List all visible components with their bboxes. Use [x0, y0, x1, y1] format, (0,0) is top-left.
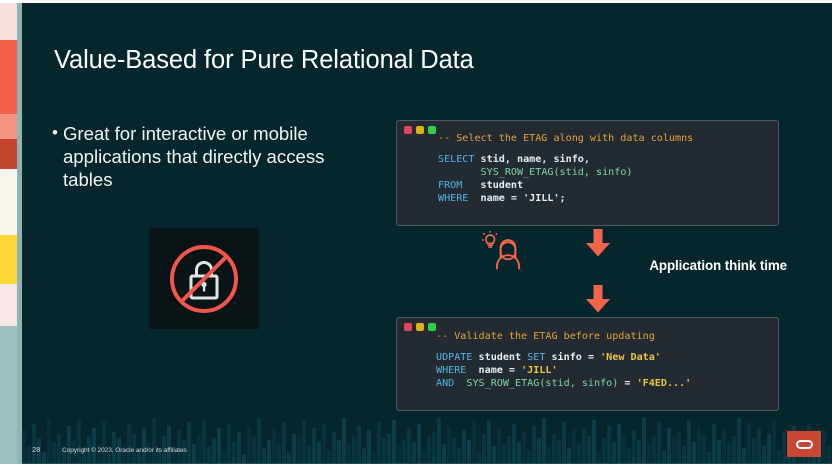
footer-bar	[417, 424, 421, 464]
code-content: -- Validate the ETAG before updatingUDPA…	[436, 330, 772, 390]
footer-bar	[412, 442, 416, 464]
footer-bar	[642, 418, 646, 464]
left-color-strip	[0, 0, 17, 468]
footer-bar	[337, 440, 341, 464]
footer-bar	[267, 440, 271, 464]
code-token: SELECT	[438, 154, 481, 165]
footer-bar	[822, 430, 826, 464]
code-token: WHERE	[436, 365, 479, 376]
footer-bar	[457, 448, 461, 464]
strip-band-salmon	[0, 114, 17, 139]
footer-bar	[532, 426, 536, 464]
code-token: -- Select the ETAG along with data colum…	[438, 133, 693, 144]
person-idea-icon	[481, 230, 523, 270]
footer-bar	[327, 450, 331, 464]
strip-band-pale-pink	[0, 284, 17, 326]
footer-bar	[772, 420, 776, 464]
window-minimize-dot[interactable]	[416, 323, 424, 331]
footer-bar	[282, 422, 286, 464]
footer-bar	[522, 432, 526, 464]
footer-bar	[562, 422, 566, 464]
footer-bar	[737, 418, 741, 464]
footer-bar	[402, 440, 406, 464]
code-token: FROM	[438, 180, 481, 191]
footer-bar	[382, 438, 386, 464]
code-token: SYS_ROW_ETAG(stid, sinfo)	[466, 378, 624, 389]
code-token: name = 'JILL';	[481, 193, 566, 204]
footer-bar	[542, 418, 546, 464]
footer-bar	[32, 424, 36, 464]
window-maximize-dot[interactable]	[428, 126, 436, 134]
footer-bar	[607, 426, 611, 464]
oracle-logo-icon	[787, 431, 821, 457]
footer-bar	[762, 446, 766, 464]
footer-bar	[257, 418, 261, 464]
footer-bar	[667, 428, 671, 464]
footer-bar	[717, 440, 721, 464]
footer-bar	[652, 436, 656, 464]
code-line: -- Select the ETAG along with data colum…	[438, 132, 772, 145]
strip-band-yellow	[0, 235, 17, 284]
footer-bar	[592, 420, 596, 464]
footer-bar	[217, 428, 221, 464]
footer-bar	[27, 446, 31, 464]
footer-bar	[237, 432, 241, 464]
footer-bar	[452, 438, 456, 464]
footer-bar	[527, 450, 531, 464]
list-item: • Great for interactive or mobile applic…	[52, 122, 372, 192]
footer-bar	[272, 430, 276, 464]
window-close-dot[interactable]	[404, 126, 412, 134]
footer-bar	[702, 434, 706, 464]
code-token: sinfo =	[551, 352, 600, 363]
code-token: 'New Data'	[600, 352, 661, 363]
footer-bar	[297, 438, 301, 464]
footer-bar	[827, 446, 831, 464]
footer-bar	[627, 448, 631, 464]
arrow-down-icon-bottom	[583, 285, 613, 313]
code-token: AND	[436, 378, 466, 389]
code-line: WHERE name = 'JILL';	[438, 192, 772, 205]
footer-bar	[437, 418, 441, 464]
footer-bar	[622, 434, 626, 464]
oracle-o-shape	[796, 440, 813, 449]
footer-bar	[52, 442, 56, 464]
arrow-down-icon-top	[583, 229, 613, 257]
footer-bar	[432, 432, 436, 464]
strip-band-cream	[0, 169, 17, 235]
footer-bar	[142, 428, 146, 464]
footer-bar	[332, 432, 336, 464]
footer-bar	[587, 436, 591, 464]
footer-bar	[557, 440, 561, 464]
footer-bar	[302, 420, 306, 464]
footer-bar	[657, 422, 661, 464]
footer-bar	[277, 444, 281, 464]
code-token: UDPATE	[436, 352, 479, 363]
code-token: student	[479, 352, 528, 363]
footer-bar	[572, 430, 576, 464]
footer-bar	[192, 444, 196, 464]
footer-bar	[512, 424, 516, 464]
window-minimize-dot[interactable]	[416, 126, 424, 134]
footer-bar	[447, 426, 451, 464]
footer-bar	[692, 442, 696, 464]
footer-bar	[497, 428, 501, 464]
code-line: -- Validate the ETAG before updating	[436, 330, 772, 343]
window-close-dot[interactable]	[404, 323, 412, 331]
footer-bar	[57, 434, 61, 464]
footer-bar	[197, 434, 201, 464]
code-line: SYS_ROW_ETAG(stid, sinfo)	[438, 166, 772, 179]
footer-bar	[697, 426, 701, 464]
footer-bar	[127, 424, 131, 464]
code-token: student	[481, 180, 524, 191]
bullet-marker: •	[52, 122, 58, 144]
code-token: -- Validate the ETAG before updating	[436, 331, 655, 342]
footer-bar	[672, 438, 676, 464]
footer-bar	[67, 426, 71, 464]
code-line: UDPATE student SET sinfo = 'New Data'	[436, 351, 772, 364]
footer-bar	[232, 442, 236, 464]
footer-bar	[307, 446, 311, 464]
code-line: WHERE name = 'JILL'	[436, 364, 772, 377]
footer-bar	[647, 444, 651, 464]
footer-bar	[397, 446, 401, 464]
bullet-text: Great for interactive or mobile applicat…	[63, 122, 372, 192]
footer-bar	[612, 442, 616, 464]
footer-bar	[732, 436, 736, 464]
footer-bar	[507, 436, 511, 464]
footer-bar	[487, 420, 491, 464]
slide-root: Value-Based for Pure Relational Data • G…	[0, 0, 832, 468]
page-title: Value-Based for Pure Relational Data	[54, 45, 694, 76]
strip-band-sage-teal	[0, 326, 17, 468]
window-controls	[404, 126, 436, 134]
footer-bar	[517, 442, 521, 464]
footer-bar	[352, 436, 356, 464]
footer-bar	[677, 432, 681, 464]
code-window-validate-etag: -- Validate the ETAG before updatingUDPA…	[396, 317, 779, 411]
footer-bar	[227, 424, 231, 464]
footer-bar	[167, 426, 171, 464]
footer-bar	[502, 444, 506, 464]
no-lock-icon	[162, 237, 246, 321]
footer-bar	[367, 430, 371, 464]
footer-bar	[362, 448, 366, 464]
footer-bar	[577, 444, 581, 464]
footer-bar	[322, 424, 326, 464]
footer-bar	[482, 434, 486, 464]
code-content: -- Select the ETAG along with data colum…	[438, 132, 772, 205]
footer-bar	[357, 426, 361, 464]
footer-bar	[152, 418, 156, 464]
no-lock-panel	[149, 228, 259, 329]
footer-bar	[47, 418, 51, 464]
footer-bar	[602, 438, 606, 464]
code-token: SET	[527, 352, 551, 363]
footer-bar	[582, 428, 586, 464]
footer-bar	[92, 428, 96, 464]
window-maximize-dot[interactable]	[428, 323, 436, 331]
bullet-list: • Great for interactive or mobile applic…	[52, 122, 372, 192]
footer-bar	[467, 440, 471, 464]
window-controls	[404, 323, 436, 331]
footer-bar	[222, 450, 226, 464]
footer-bar	[347, 444, 351, 464]
footer-bar	[392, 420, 396, 464]
code-token: 'JILL'	[521, 365, 557, 376]
footer-bar	[567, 448, 571, 464]
footer-bar	[537, 438, 541, 464]
footer-bar	[262, 448, 266, 464]
footer-bar	[292, 434, 296, 464]
footer-bar	[252, 436, 256, 464]
footer-bar	[377, 422, 381, 464]
footer-bar	[747, 422, 751, 464]
code-line: SELECT stid, name, sinfo,	[438, 153, 772, 166]
footer-bar	[637, 440, 641, 464]
strip-band-brick-red	[0, 139, 17, 169]
code-window-select-etag: -- Select the ETAG along with data colum…	[396, 120, 779, 226]
footer-bar	[757, 428, 761, 464]
footer-bar	[342, 418, 346, 464]
code-token: WHERE	[438, 193, 481, 204]
code-line: AND SYS_ROW_ETAG(stid, sinfo) = 'F4ED...…	[436, 377, 772, 390]
footer-bar	[207, 446, 211, 464]
footer-bar	[427, 436, 431, 464]
slide-bottom-edge	[0, 464, 832, 468]
footer-bar	[442, 444, 446, 464]
footer-bar	[472, 422, 476, 464]
footer-bar-pattern	[22, 404, 832, 464]
footer-bar	[247, 426, 251, 464]
footer-page-number: 28	[32, 445, 40, 454]
footer-bar	[317, 442, 321, 464]
footer-bar	[312, 428, 316, 464]
strip-divider	[17, 0, 22, 468]
strip-band-coral-red	[0, 40, 17, 114]
footer-bar	[782, 432, 786, 464]
footer-bar	[552, 434, 556, 464]
footer-bar	[617, 424, 621, 464]
footer-bar	[462, 430, 466, 464]
code-token: 'F4ED...'	[637, 378, 692, 389]
code-token: name =	[479, 365, 522, 376]
footer-bar	[102, 422, 106, 464]
footer-bar	[767, 434, 771, 464]
footer-bar	[722, 430, 726, 464]
code-token: SYS_ROW_ETAG(stid, sinfo)	[481, 167, 633, 178]
code-token: stid, name, sinfo,	[481, 154, 590, 165]
code-token	[438, 167, 481, 178]
footer-bar	[712, 424, 716, 464]
code-blank-line	[436, 343, 772, 351]
footer-bar	[727, 444, 731, 464]
strip-band-light-pink	[0, 0, 17, 40]
code-line: FROM student	[438, 179, 772, 192]
footer-bar	[777, 450, 781, 464]
footer-bar	[407, 428, 411, 464]
code-blank-line	[438, 145, 772, 153]
footer-bar	[22, 430, 26, 464]
footer-bar	[187, 422, 191, 464]
footer-bar	[742, 448, 746, 464]
footer-bar	[202, 420, 206, 464]
code-token: =	[624, 378, 636, 389]
footer-bar	[662, 450, 666, 464]
slide-top-edge	[0, 0, 832, 3]
footer-bar	[422, 450, 426, 464]
footer-bar	[632, 430, 636, 464]
footer-bar	[682, 446, 686, 464]
footer-copyright: Copyright © 2023, Oracle and/or its affi…	[62, 447, 187, 454]
footer-bar	[212, 438, 216, 464]
footer-bar	[687, 420, 691, 464]
footer-bar	[387, 434, 391, 464]
application-think-time-label: Application think time	[547, 258, 787, 273]
footer-bar	[752, 438, 756, 464]
footer-bar	[547, 446, 551, 464]
footer-bar	[492, 446, 496, 464]
footer-bar	[77, 420, 81, 464]
